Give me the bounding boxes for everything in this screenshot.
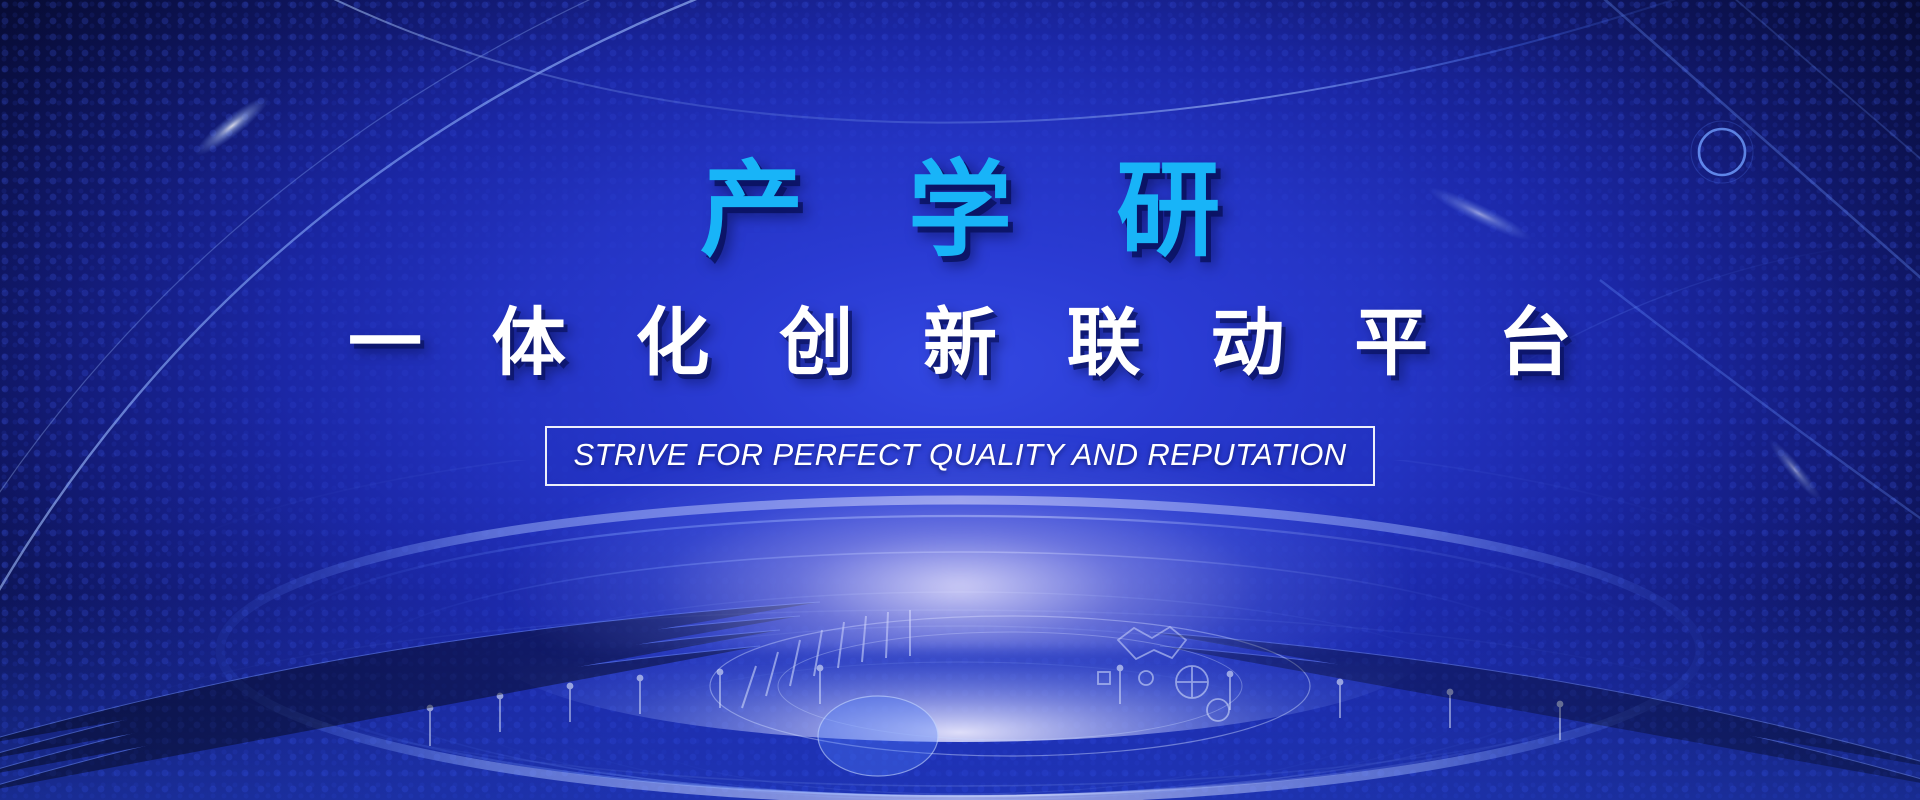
tagline-text: STRIVE FOR PERFECT QUALITY AND REPUTATIO… (573, 437, 1346, 473)
tagline-box: STRIVE FOR PERFECT QUALITY AND REPUTATIO… (545, 426, 1374, 486)
page-subtitle: 一 体 化 创 新 联 动 平 台 (326, 306, 1594, 380)
banner-content: 产 学 研 一 体 化 创 新 联 动 平 台 STRIVE FOR PERFE… (0, 0, 1920, 800)
hero-banner: 产 学 研 一 体 化 创 新 联 动 平 台 STRIVE FOR PERFE… (0, 0, 1920, 800)
page-title: 产 学 研 (666, 158, 1254, 262)
